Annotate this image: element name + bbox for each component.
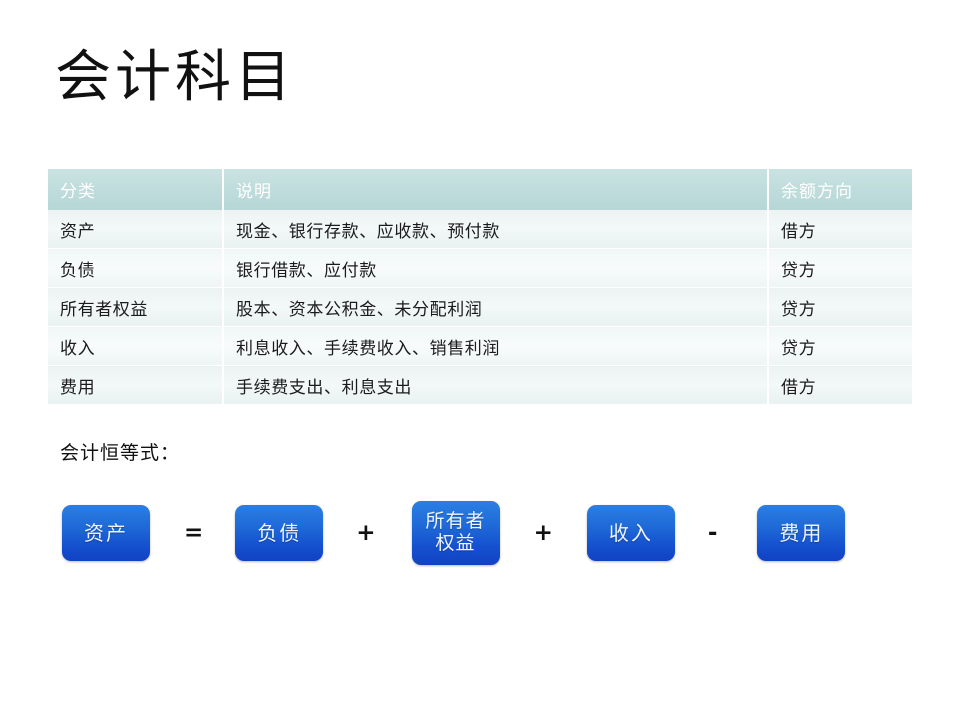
cell-category: 费用 [48,366,223,405]
cell-direction: 借方 [768,366,912,405]
table-row: 资产 现金、银行存款、应收款、预付款 借方 [48,210,912,249]
equation-term-revenue: 收入 [587,505,675,561]
equation-operator-minus: - [708,522,718,545]
equation-operator-plus-1: + [356,522,375,545]
column-header-description: 说明 [223,169,768,210]
owners-equity-line-2: 权益 [426,533,486,555]
equation-term-owners-equity: 所有者 权益 [412,501,500,565]
cell-description: 股本、资本公积金、未分配利润 [223,288,768,327]
cell-description: 手续费支出、利息支出 [223,366,768,405]
cell-category: 所有者权益 [48,288,223,327]
equation-term-owners-equity-label: 所有者 权益 [426,511,486,555]
cell-category: 收入 [48,327,223,366]
owners-equity-line-1: 所有者 [426,510,486,532]
slide-canvas: 会计科目 分类 说明 余额方向 资产 现金、银行存款、应收款、预付款 借方 负债… [0,0,960,720]
equation-label: 会计恒等式： [60,438,180,465]
table-row: 收入 利息收入、手续费收入、销售利润 贷方 [48,327,912,366]
cell-description: 银行借款、应付款 [223,249,768,288]
equation-operator-plus-2: + [534,522,553,545]
equation-term-expenses-label: 费用 [779,522,823,545]
column-header-direction: 余额方向 [768,169,912,210]
table-header: 分类 说明 余额方向 [48,169,912,210]
equation-term-assets-label: 资产 [84,522,128,545]
cell-direction: 借方 [768,210,912,249]
column-header-category: 分类 [48,169,223,210]
accounting-subjects-table: 分类 说明 余额方向 资产 现金、银行存款、应收款、预付款 借方 负债 银行借款… [48,169,912,405]
table-header-row: 分类 说明 余额方向 [48,169,912,210]
table-body: 资产 现金、银行存款、应收款、预付款 借方 负债 银行借款、应付款 贷方 所有者… [48,210,912,405]
page-title: 会计科目 [55,46,295,110]
cell-direction: 贷方 [768,249,912,288]
cell-category: 资产 [48,210,223,249]
equation-operator-equals: = [184,522,203,545]
equation-term-revenue-label: 收入 [609,522,653,545]
table-row: 费用 手续费支出、利息支出 借方 [48,366,912,405]
equation-term-liabilities-label: 负债 [257,522,301,545]
equation-term-liabilities: 负债 [235,505,323,561]
equation-term-expenses: 费用 [757,505,845,561]
accounting-equation: 资产 = 负债 + 所有者 权益 + 收入 - 费用 [62,492,882,574]
cell-description: 现金、银行存款、应收款、预付款 [223,210,768,249]
table-row: 所有者权益 股本、资本公积金、未分配利润 贷方 [48,288,912,327]
cell-direction: 贷方 [768,288,912,327]
cell-category: 负债 [48,249,223,288]
cell-description: 利息收入、手续费收入、销售利润 [223,327,768,366]
table-row: 负债 银行借款、应付款 贷方 [48,249,912,288]
cell-direction: 贷方 [768,327,912,366]
equation-term-assets: 资产 [62,505,150,561]
